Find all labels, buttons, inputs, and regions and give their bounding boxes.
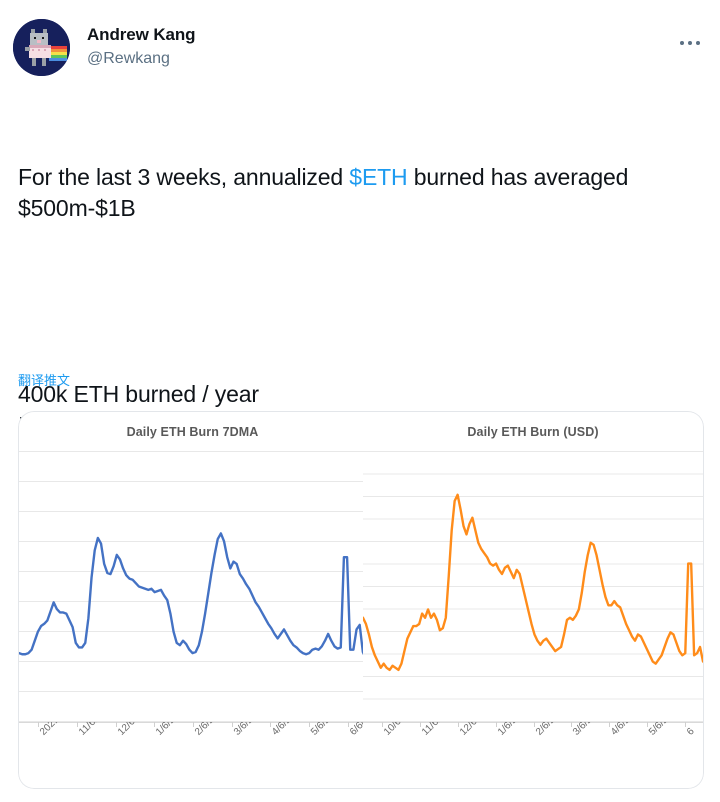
axis-tick-mark bbox=[496, 722, 497, 727]
translate-tweet-link[interactable]: 翻译推文 bbox=[18, 373, 70, 389]
axis-tick-mark bbox=[382, 722, 383, 727]
chart-svg-left bbox=[19, 451, 366, 722]
axis-tick-mark bbox=[309, 722, 310, 727]
axis-tick-label: 12/6/2021 bbox=[116, 722, 155, 738]
axis-tick-label: 11/6/2021 bbox=[77, 722, 116, 738]
tweet-text-pre: For the last 3 weeks, annualized bbox=[18, 164, 349, 190]
axis-tick-mark bbox=[534, 722, 535, 727]
axis-tick-label: 1/6/2022 bbox=[154, 722, 189, 738]
tweet-header: Andrew Kang @Rewkang bbox=[0, 0, 720, 96]
axis-tick-label: 6 bbox=[685, 726, 697, 738]
chart-title-left: Daily ETH Burn 7DMA bbox=[19, 425, 366, 439]
axis-tick-label: 5/6/2022 bbox=[309, 722, 344, 738]
axis-tick-label: 1/6/2022 bbox=[496, 722, 531, 738]
axis-tick-mark bbox=[348, 722, 349, 727]
spacer bbox=[18, 286, 678, 317]
avatar-image bbox=[13, 19, 70, 76]
axis-tick-label: 10/6/2021 bbox=[382, 722, 421, 738]
tweet-media-charts[interactable]: Daily ETH Burn 7DMA 202111/6/202112/6/20… bbox=[18, 411, 704, 789]
axis-tick-label: 5/6/2022 bbox=[647, 722, 682, 738]
cashtag-eth-link[interactable]: $ETH bbox=[349, 164, 407, 190]
dot bbox=[680, 41, 684, 45]
chart-series-line bbox=[19, 533, 366, 658]
more-options-icon[interactable] bbox=[674, 30, 706, 56]
axis-tick-mark bbox=[420, 722, 421, 727]
avatar[interactable] bbox=[13, 19, 70, 76]
dot bbox=[688, 41, 692, 45]
author-display-name[interactable]: Andrew Kang bbox=[87, 24, 195, 45]
axis-tick-label: 4/6/2022 bbox=[609, 722, 644, 738]
axis-tick-mark bbox=[77, 722, 78, 727]
axis-tick-mark bbox=[38, 722, 39, 727]
axis-tick-mark bbox=[193, 722, 194, 727]
axis-tick-label: 2/6/2022 bbox=[534, 722, 569, 738]
chart-title-right: Daily ETH Burn (USD) bbox=[363, 425, 703, 439]
tweet-paragraph-1: For the last 3 weeks, annualized $ETH bu… bbox=[18, 162, 678, 224]
chart-panel-eth-burn-usd: Daily ETH Burn (USD) 10/6/202111/6/20211… bbox=[363, 411, 704, 789]
axis-tick-mark bbox=[609, 722, 610, 727]
axis-tick-label: 2/6/2022 bbox=[193, 722, 228, 738]
chart-series-line bbox=[363, 495, 703, 670]
chart-svg-right bbox=[363, 451, 703, 722]
chart-plot-left bbox=[19, 451, 366, 722]
chart-panel-eth-burn-7dma: Daily ETH Burn 7DMA 202111/6/202112/6/20… bbox=[18, 411, 366, 789]
chart-xaxis-left: 202111/6/202112/6/20211/6/20222/6/20223/… bbox=[19, 722, 366, 788]
axis-tick-mark bbox=[154, 722, 155, 727]
axis-tick-label: 2021 bbox=[38, 722, 62, 738]
axis-tick-mark bbox=[647, 722, 648, 727]
axis-tick-mark bbox=[571, 722, 572, 727]
chart-plot-right bbox=[363, 451, 703, 722]
axis-tick-label: 12/6/2021 bbox=[458, 722, 497, 738]
axis-tick-mark bbox=[458, 722, 459, 727]
author-block: Andrew Kang @Rewkang bbox=[87, 24, 195, 69]
axis-tick-label: 3/6/2022 bbox=[232, 722, 267, 738]
chart-xaxis-right: 10/6/202111/6/202112/6/20211/6/20222/6/2… bbox=[363, 722, 703, 788]
axis-tick-mark bbox=[116, 722, 117, 727]
axis-tick-mark bbox=[685, 722, 686, 727]
axis-tick-label: 11/6/2021 bbox=[420, 722, 459, 738]
author-handle[interactable]: @Rewkang bbox=[87, 48, 195, 69]
axis-tick-mark bbox=[270, 722, 271, 727]
axis-tick-mark bbox=[232, 722, 233, 727]
dot bbox=[696, 41, 700, 45]
axis-tick-label: 3/6/2022 bbox=[571, 722, 606, 738]
axis-tick-label: 4/6/2022 bbox=[270, 722, 305, 738]
